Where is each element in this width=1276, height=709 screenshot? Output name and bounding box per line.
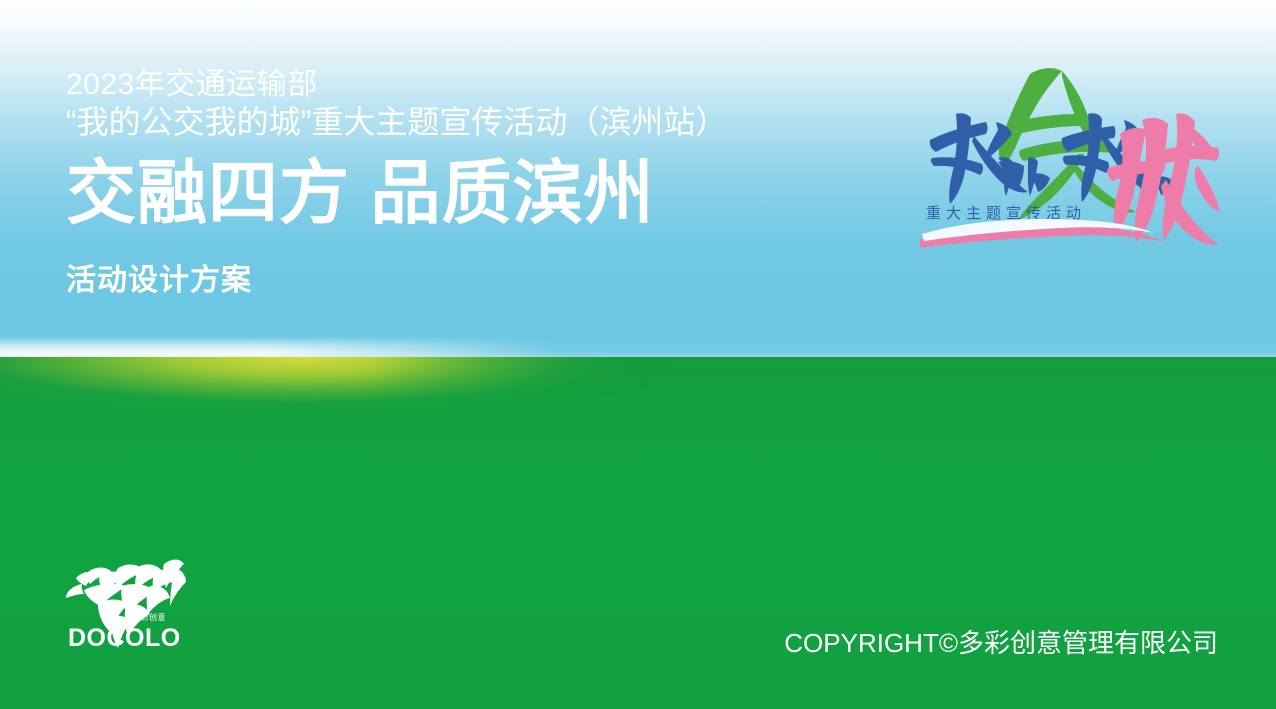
presentation-title-slide: 2023年交通运输部 “我的公交我的城”重大主题宣传活动（滨州站） 交融四方 品… <box>0 0 1276 709</box>
brand-logo-artwork: 多彩创意 DOCOLO <box>56 556 196 652</box>
campaign-logo-artwork: .cl-blue { fill:#2E5FA8; } .cl-green { f… <box>912 62 1232 252</box>
brand-logo-sub-mark: 多彩创意 <box>132 612 166 622</box>
brand-logo: 多彩创意 DOCOLO <box>56 556 196 652</box>
page-subtitle: 活动设计方案 <box>66 262 886 300</box>
copyright-notice: COPYRIGHT©多彩创意管理有限公司 <box>784 627 1218 659</box>
page-title: 交融四方 品质滨州 <box>66 150 886 236</box>
kicker-line-1: 2023年交通运输部 <box>66 66 886 104</box>
title-text-block: 2023年交通运输部 “我的公交我的城”重大主题宣传活动（滨州站） 交融四方 品… <box>66 66 886 300</box>
kicker-line-2: “我的公交我的城”重大主题宣传活动（滨州站） <box>66 102 886 142</box>
campaign-logo: .cl-blue { fill:#2E5FA8; } .cl-green { f… <box>912 62 1232 252</box>
horizon-grass-glow <box>0 357 700 427</box>
brand-wordmark: DOCOLO <box>68 624 181 652</box>
